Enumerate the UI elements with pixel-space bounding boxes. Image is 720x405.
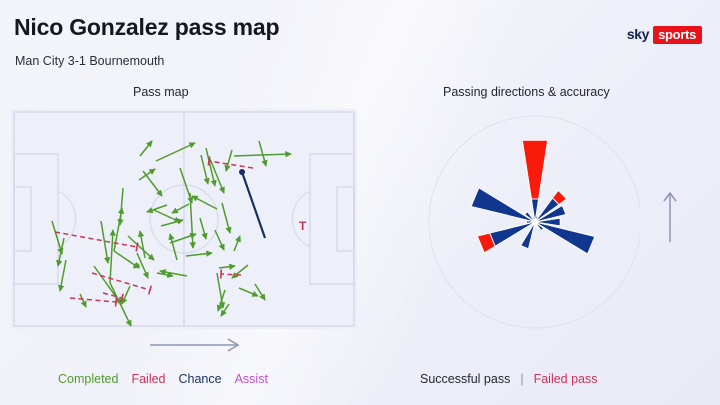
legend-item-successful-pass: Successful pass [420,372,510,386]
rose-petals [471,140,595,254]
page-title: Nico Gonzalez pass map [14,14,279,41]
match-subtitle: Man City 3-1 Bournemouth [15,54,164,68]
legend-item-failed: Failed [131,372,165,386]
passing-direction-rose-chart [400,98,640,348]
pass-map-pitch: T [10,108,358,330]
rose-petal-successful [536,222,594,254]
pitch-orientation-up-arrow-icon [660,190,680,244]
chance-pass-endpoint-dot [239,169,245,175]
sky-logo-text: sky [627,26,653,43]
sports-logo-badge: sports [653,26,702,44]
rose-legend: Successful pass | Failed pass [420,372,598,386]
direction-of-play-arrow-icon [148,336,248,354]
sky-sports-logo: sky sports [627,26,702,43]
rose-panel-title: Passing directions & accuracy [443,85,610,99]
chance-marker-label: T [299,219,307,233]
legend-item-completed: Completed [58,372,118,386]
legend-item-assist: Assist [235,372,268,386]
pass-map-legend: Completed Failed Chance Assist [58,372,268,386]
legend-item-chance: Chance [179,372,222,386]
legend-separator: | [520,372,523,386]
rose-petal-successful [471,188,534,222]
pitch-panel-title: Pass map [133,85,189,99]
rose-petal-failed [522,140,547,199]
pass-map-infographic: Nico Gonzalez pass map Man City 3-1 Bour… [0,0,720,405]
legend-item-failed-pass: Failed pass [534,372,598,386]
rose-center-hub [532,219,538,225]
